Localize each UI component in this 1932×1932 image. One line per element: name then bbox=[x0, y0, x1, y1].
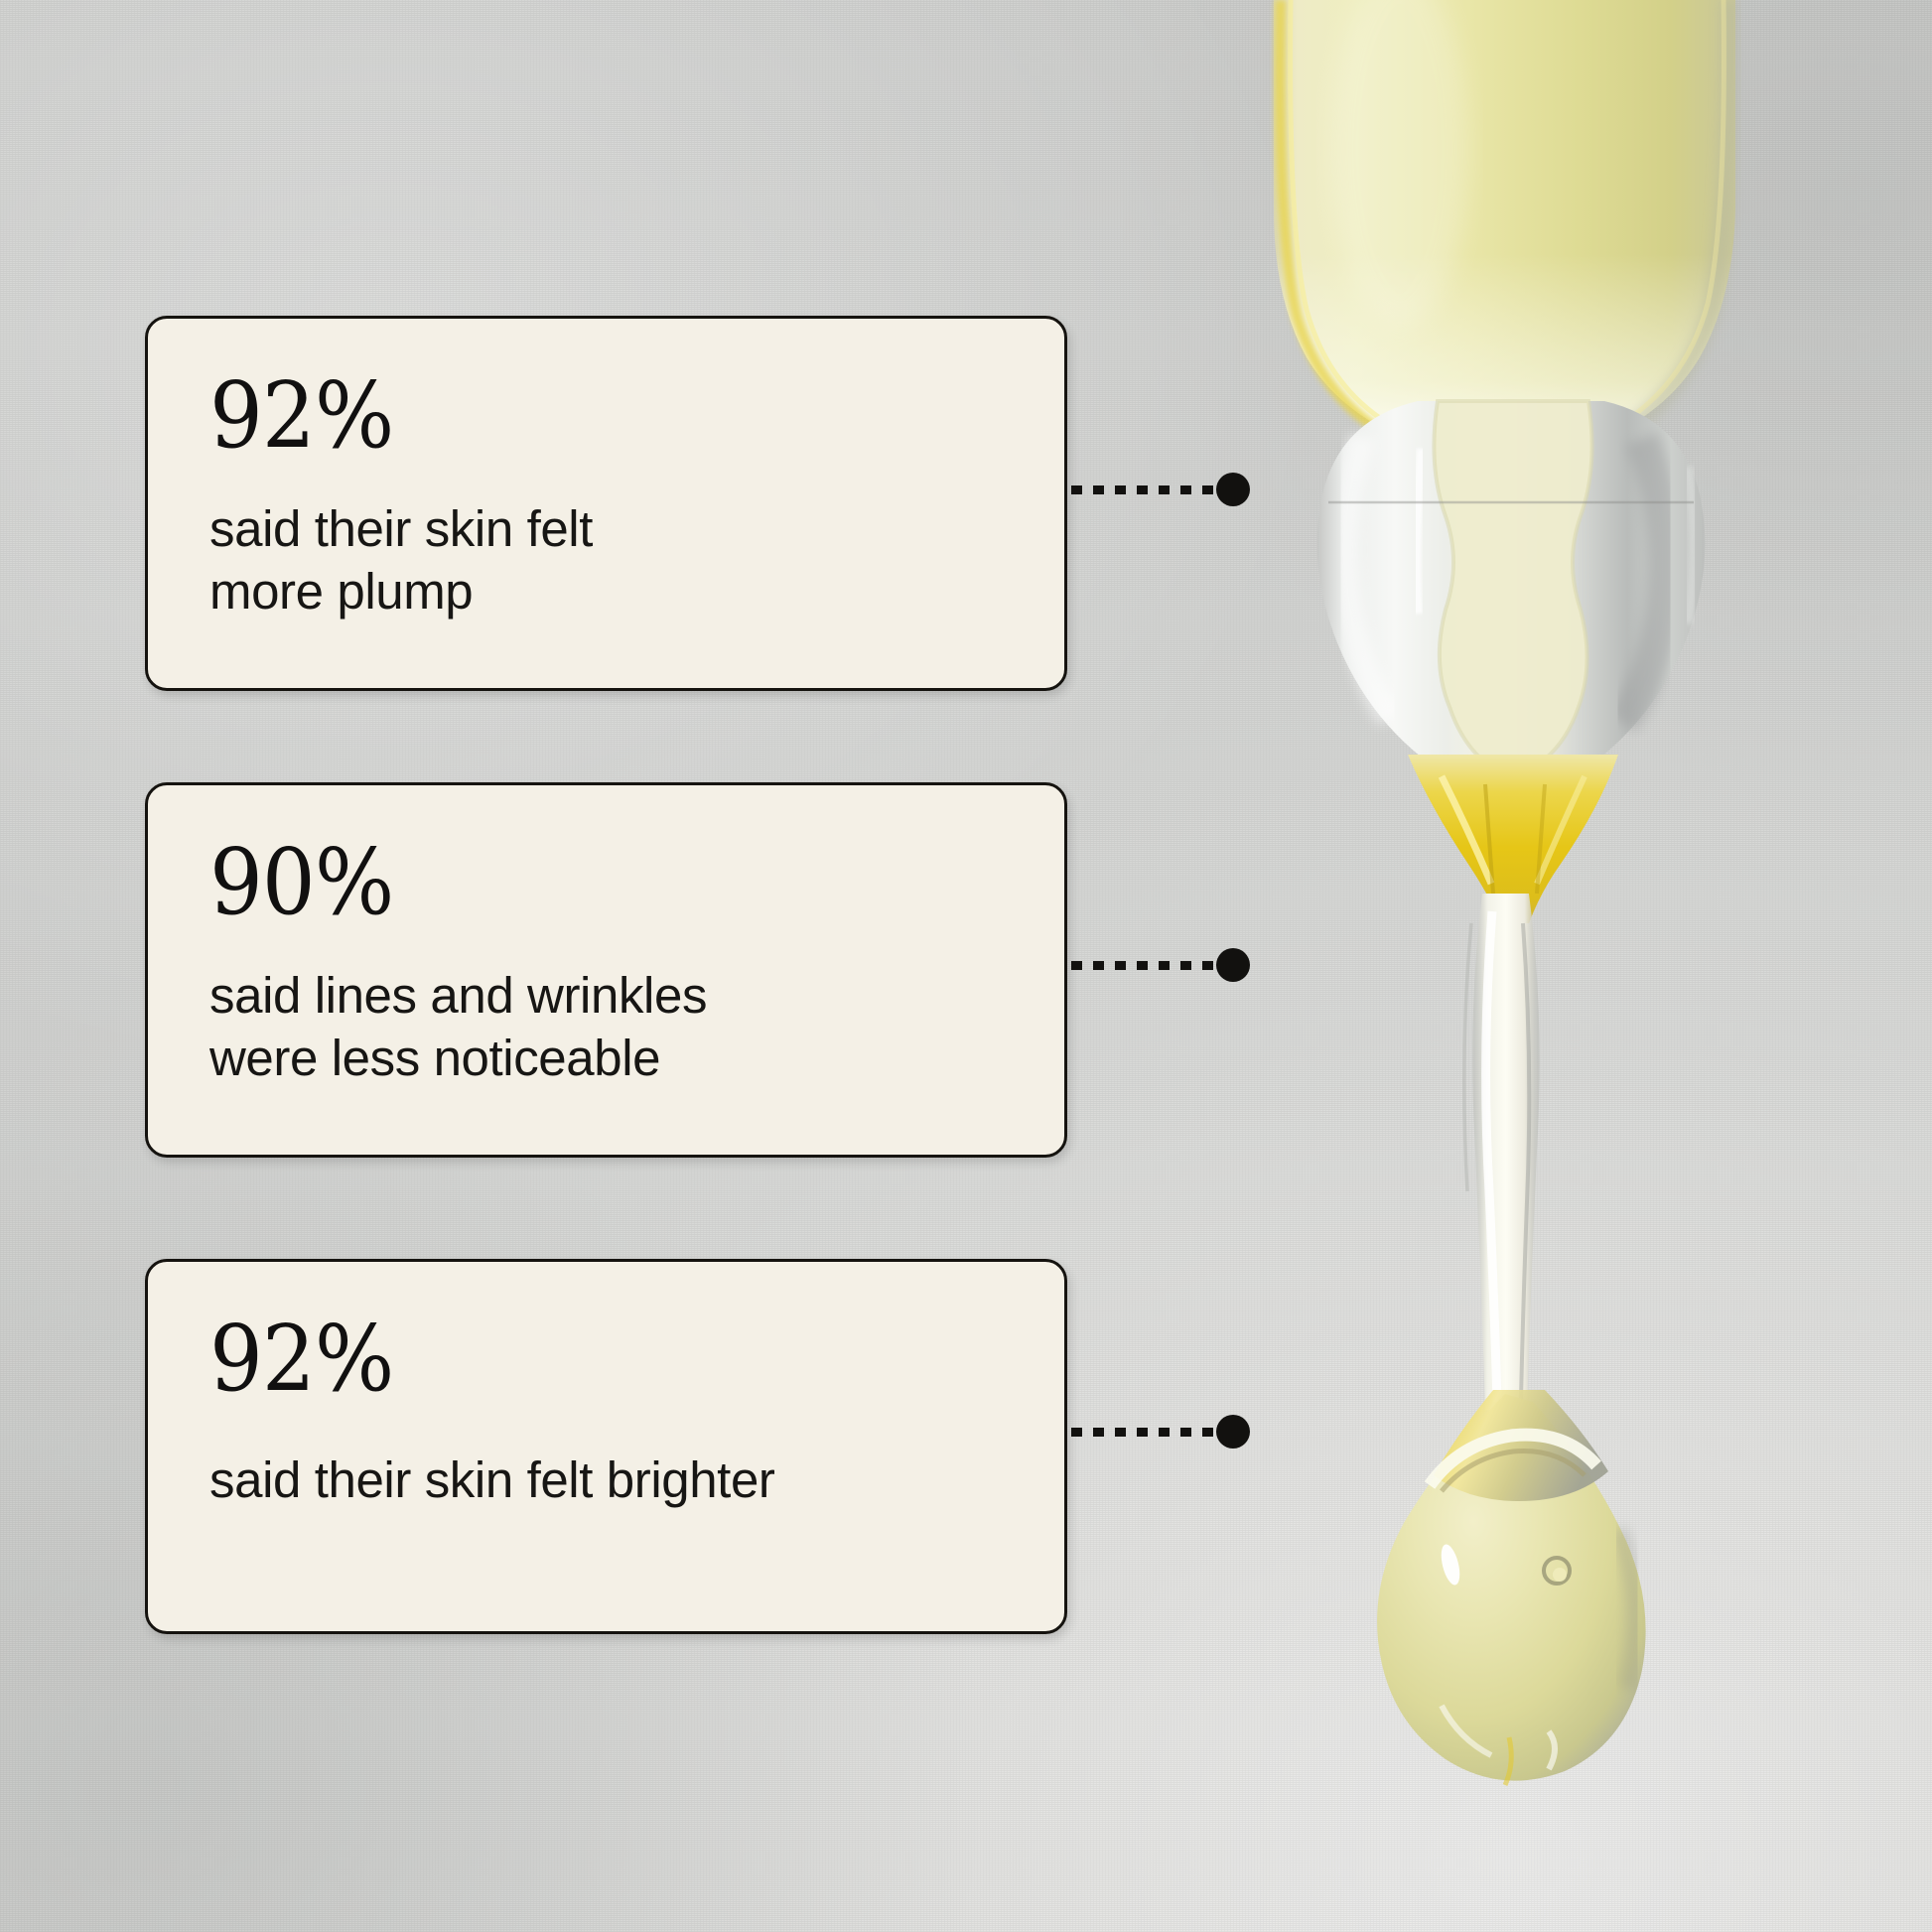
stat-card: 92% said their skin felt brighter bbox=[145, 1259, 1067, 1634]
dotted-leader-line bbox=[1071, 1428, 1220, 1437]
connector-end-dot bbox=[1216, 473, 1250, 506]
connector-end-dot bbox=[1216, 948, 1250, 982]
infographic-canvas: 92% said their skin felt more plump 90% … bbox=[0, 0, 1932, 1932]
connector-line-2 bbox=[1071, 1417, 1250, 1447]
connector-line-1 bbox=[1071, 950, 1250, 980]
stat-card: 90% said lines and wrinkles were less no… bbox=[145, 782, 1067, 1158]
connector-end-dot bbox=[1216, 1415, 1250, 1449]
connector-line-0 bbox=[1071, 475, 1250, 504]
stat-percent: 92% bbox=[209, 370, 996, 462]
stat-description: said lines and wrinkles were less notice… bbox=[209, 964, 1064, 1089]
stat-description: said their skin felt more plump bbox=[209, 497, 1064, 622]
stat-description: said their skin felt brighter bbox=[209, 1449, 1064, 1511]
dotted-leader-line bbox=[1071, 485, 1220, 494]
dotted-leader-line bbox=[1071, 961, 1220, 970]
stat-percent: 92% bbox=[209, 1313, 996, 1405]
stat-percent: 90% bbox=[209, 837, 996, 928]
stat-card: 92% said their skin felt more plump bbox=[145, 316, 1067, 691]
